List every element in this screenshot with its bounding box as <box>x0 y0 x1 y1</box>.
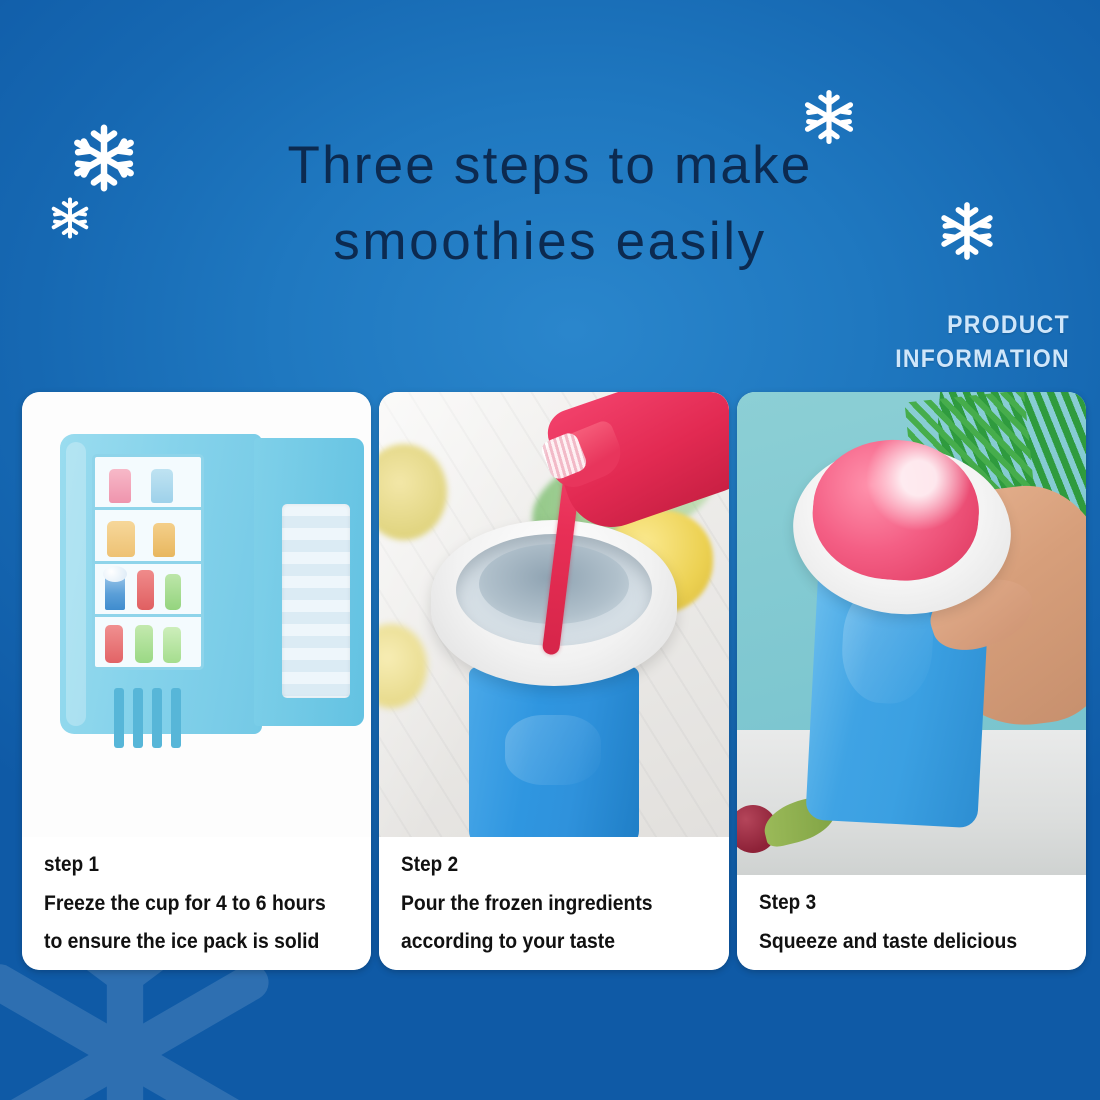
ice-cream-scoop <box>103 566 127 582</box>
fridge-vent-slot <box>114 688 124 748</box>
blue-slush-cup <box>469 667 639 837</box>
popsicle-green-3 <box>163 627 181 663</box>
fridge-vents <box>114 688 206 748</box>
step-description-line: according to your taste <box>401 929 696 954</box>
step-description-line: Pour the frozen ingredients <box>401 891 696 916</box>
hand-holding-slush-cup-photo <box>737 392 1086 875</box>
popsicle-red <box>137 570 154 610</box>
step-description-line: Squeeze and taste delicious <box>759 929 1054 954</box>
jar-gold <box>153 523 175 557</box>
fridge-door-ice-panel <box>282 504 350 698</box>
step-caption-1: step 1 Freeze the cup for 4 to 6 hours t… <box>22 837 371 970</box>
step-description-line: Freeze the cup for 4 to 6 hours <box>44 891 339 916</box>
step-card-3[interactable]: Step 3 Squeeze and taste delicious <box>737 392 1086 970</box>
fridge-shelf-2 <box>95 510 201 563</box>
step-card-2[interactable]: Step 2 Pour the frozen ingredients accor… <box>379 392 728 970</box>
fridge-shelves <box>92 454 204 670</box>
popsicle-green <box>165 574 181 610</box>
popsicle-green-2 <box>135 625 153 663</box>
title-line-2: smoothies easily <box>0 204 1100 280</box>
step-description-line: to ensure the ice pack is solid <box>44 929 339 954</box>
page-title: Three steps to make smoothies easily <box>0 128 1100 280</box>
step-caption-3: Step 3 Squeeze and taste delicious <box>737 875 1086 970</box>
jar-amber <box>107 521 135 557</box>
fridge-shelf-4 <box>95 617 201 667</box>
fridge-shelf-3 <box>95 564 201 617</box>
step-label: step 1 <box>44 853 339 877</box>
product-information-label: PRODUCT INFORMATION <box>895 308 1070 376</box>
pouring-juice-photo <box>379 392 728 837</box>
fridge-shelf-1 <box>95 457 201 510</box>
product-information-line-1: PRODUCT <box>895 308 1070 342</box>
product-infographic-poster: Three steps to make smoothies easily PRO… <box>0 0 1100 1100</box>
steps-card-row: step 1 Freeze the cup for 4 to 6 hours t… <box>22 392 1086 970</box>
step-label: Step 3 <box>759 891 1054 915</box>
fridge-vent-slot <box>171 688 181 748</box>
fridge-vent-slot <box>133 688 143 748</box>
bottle-blue <box>151 469 173 503</box>
mini-fridge-photo <box>22 392 371 837</box>
bottle-pink <box>109 469 131 503</box>
fridge-vent-slot <box>152 688 162 748</box>
product-information-line-2: INFORMATION <box>895 342 1070 376</box>
step-caption-2: Step 2 Pour the frozen ingredients accor… <box>379 837 728 970</box>
step-label: Step 2 <box>401 853 696 877</box>
title-line-1: Three steps to make <box>288 136 813 195</box>
step-card-1[interactable]: step 1 Freeze the cup for 4 to 6 hours t… <box>22 392 371 970</box>
popsicle-red-2 <box>105 625 123 663</box>
